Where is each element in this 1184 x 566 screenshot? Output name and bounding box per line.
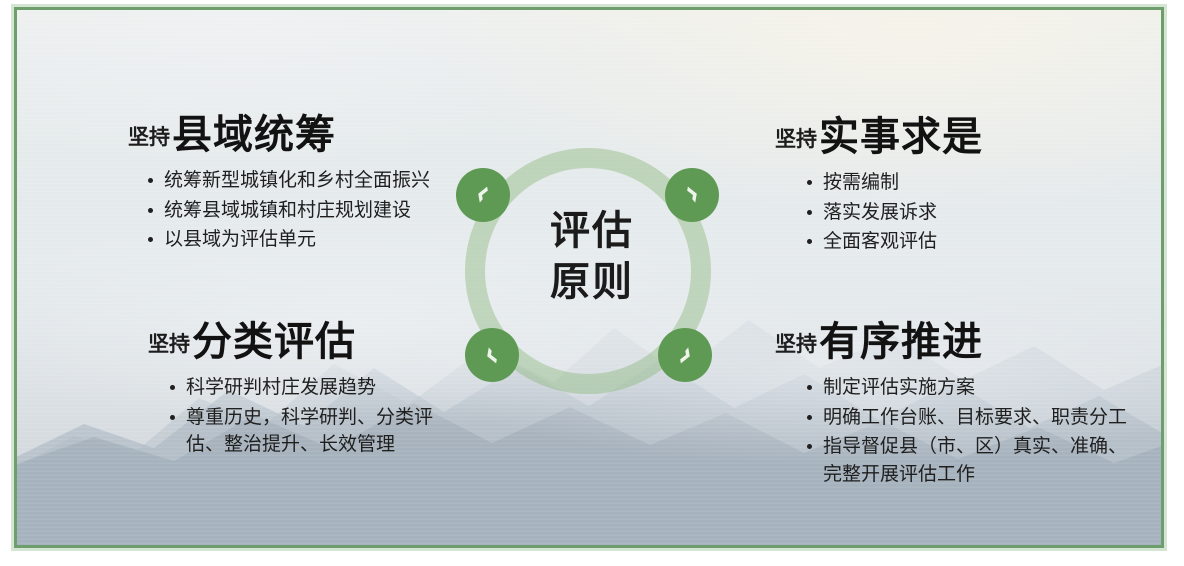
quadrant-heading: 坚持 县域统筹 [128,115,430,155]
bullet-list: 制定评估实施方案 明确工作台账、目标要求、职责分工 指导督促县（市、区）真实、准… [801,374,1127,489]
list-item: 科学研判村庄发展趋势 [164,374,433,402]
heading-prefix: 坚持 [775,123,817,157]
list-item: 统筹新型城镇化和乡村全面振兴 [142,167,430,195]
list-item: 统筹县域城镇和村庄规划建设 [142,197,430,225]
quadrant-heading: 坚持 分类评估 [148,322,433,362]
list-item: 指导督促县（市、区）真实、准确、 完整开展评估工作 [801,433,1127,488]
quadrant-top-right: 坚持 实事求是 按需编制 落实发展诉求 全面客观评估 [775,117,983,258]
list-item: 全面客观评估 [801,228,983,256]
list-item: 制定评估实施方案 [801,374,1127,402]
heading-prefix: 坚持 [148,328,190,362]
quadrant-top-left: 坚持 县域统筹 统筹新型城镇化和乡村全面振兴 统筹县域城镇和村庄规划建设 以县域… [128,115,430,256]
bullet-list: 统筹新型城镇化和乡村全面振兴 统筹县域城镇和村庄规划建设 以县域为评估单元 [142,167,430,254]
heading-title: 实事求是 [819,117,983,157]
chevron-upleft-icon[interactable] [456,168,510,222]
chevron-downright-icon[interactable] [658,328,712,382]
chevron-upright-icon[interactable] [665,168,719,222]
quadrant-heading: 坚持 实事求是 [775,117,983,157]
bullet-list: 按需编制 落实发展诉求 全面客观评估 [801,169,983,256]
heading-title: 有序推进 [819,322,983,362]
quadrant-bottom-right: 坚持 有序推进 制定评估实施方案 明确工作台账、目标要求、职责分工 指导督促县（… [775,322,1127,491]
list-item: 明确工作台账、目标要求、职责分工 [801,404,1127,432]
quadrant-bottom-left: 坚持 分类评估 科学研判村庄发展趋势 尊重历史，科学研判、分类评 估、整治提升、… [148,322,433,461]
heading-prefix: 坚持 [128,121,170,155]
quadrant-heading: 坚持 有序推进 [775,322,1127,362]
list-item: 以县域为评估单元 [142,226,430,254]
list-item: 尊重历史，科学研判、分类评 估、整治提升、长效管理 [164,404,433,459]
heading-title: 县域统筹 [172,115,336,155]
list-item: 落实发展诉求 [801,199,983,227]
heading-prefix: 坚持 [775,328,817,362]
list-item: 按需编制 [801,169,983,197]
bullet-list: 科学研判村庄发展趋势 尊重历史，科学研判、分类评 估、整治提升、长效管理 [164,374,433,459]
chevron-downleft-icon[interactable] [465,328,519,382]
slide-root: 坚持 县域统筹 统筹新型城镇化和乡村全面振兴 统筹县域城镇和村庄规划建设 以县域… [0,0,1184,566]
heading-title: 分类评估 [192,322,356,362]
center-hub: 评估 原则 [453,148,731,398]
